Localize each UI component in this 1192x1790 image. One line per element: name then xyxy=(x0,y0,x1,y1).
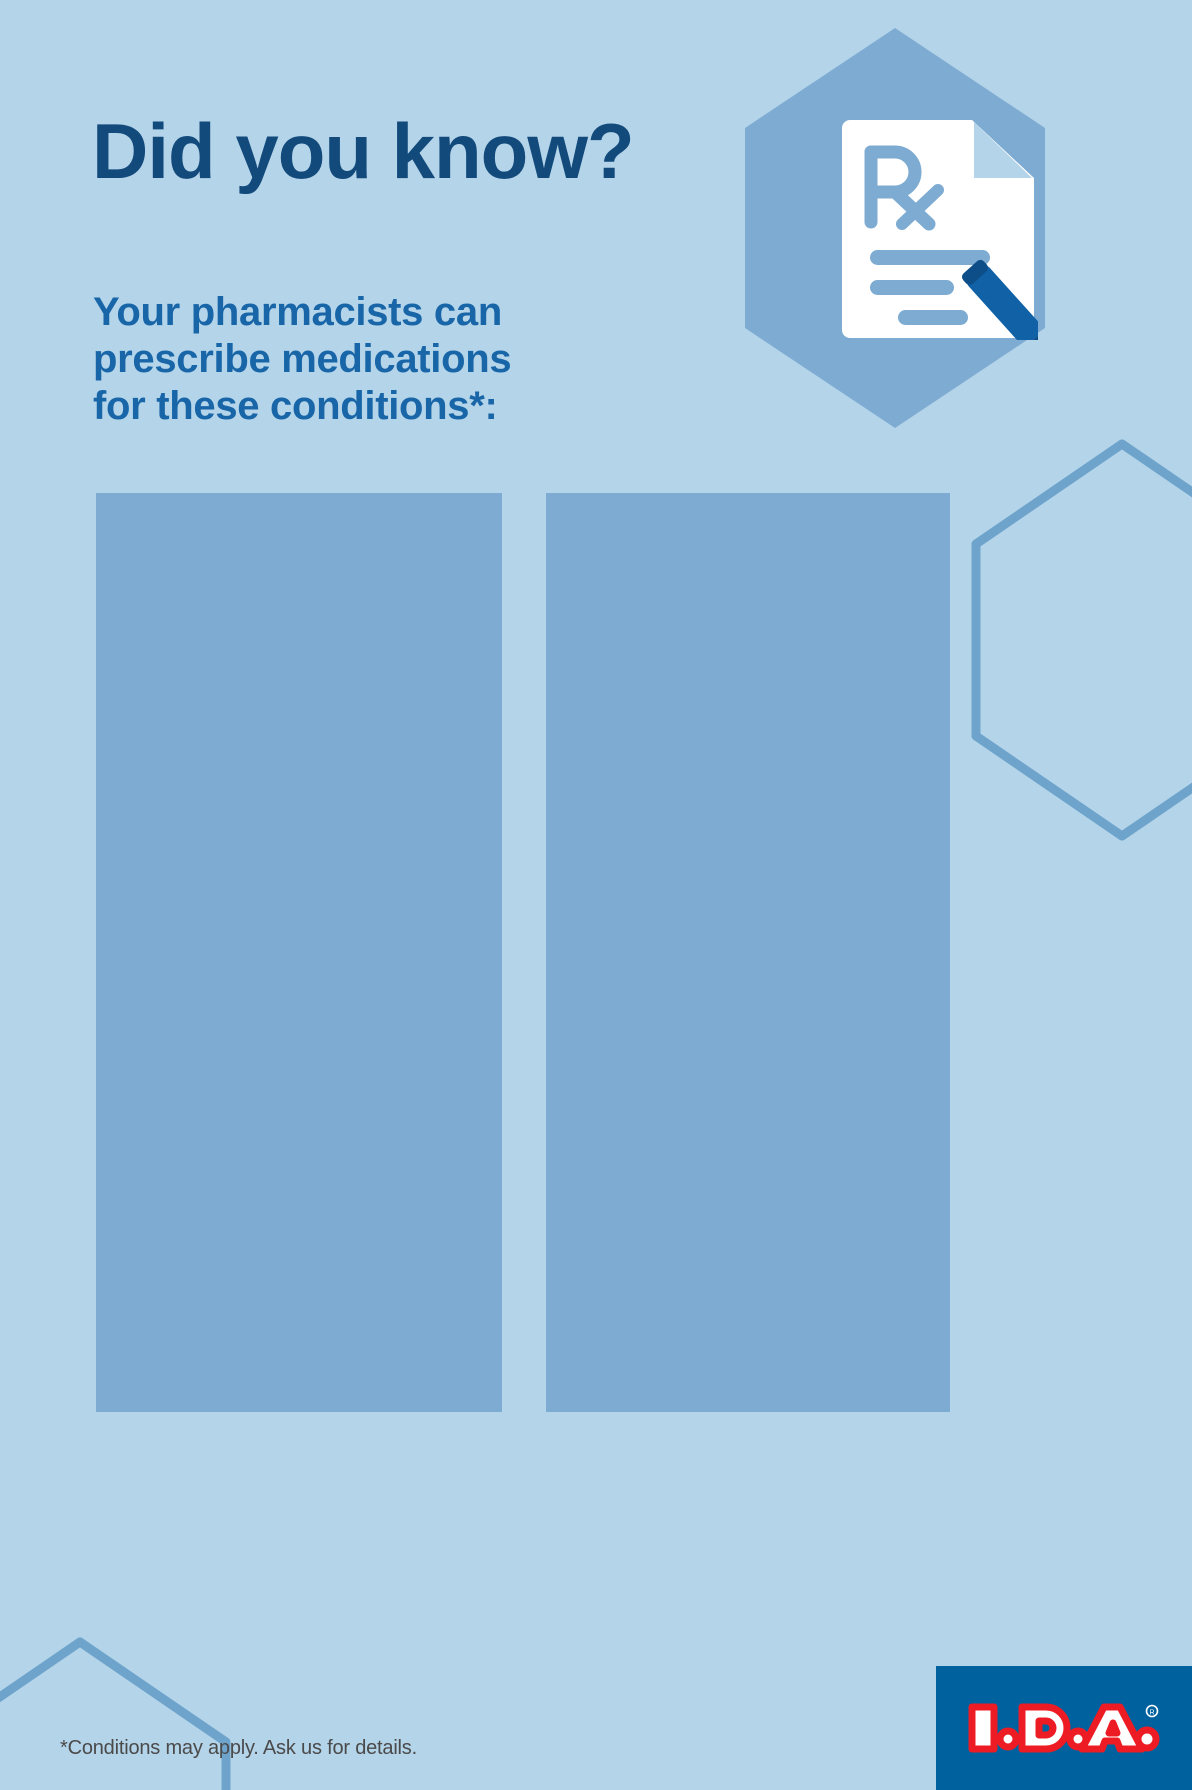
page-title: Did you know? xyxy=(92,112,634,190)
conditions-panel-right xyxy=(546,493,950,1412)
page-subtitle: Your pharmacists can prescribe medicatio… xyxy=(93,289,511,431)
hexagon-accent-outline-right xyxy=(972,440,1192,840)
conditions-panel-group xyxy=(96,493,950,1412)
poster-canvas: Did you know? Your pharmacists can presc… xyxy=(0,0,1192,1790)
subtitle-line-1: Your pharmacists can xyxy=(93,289,511,336)
footnote-text: *Conditions may apply. Ask us for detail… xyxy=(60,1736,417,1760)
svg-text:R: R xyxy=(1149,1710,1154,1717)
rx-prescription-icon xyxy=(838,110,1038,340)
subtitle-line-2: prescribe medications xyxy=(93,336,511,383)
ida-logo: R xyxy=(936,1666,1192,1790)
conditions-panel-left xyxy=(96,493,502,1412)
hexagon-accent-outline-bottom xyxy=(0,1638,230,1790)
subtitle-line-3: for these conditions*: xyxy=(93,383,511,430)
